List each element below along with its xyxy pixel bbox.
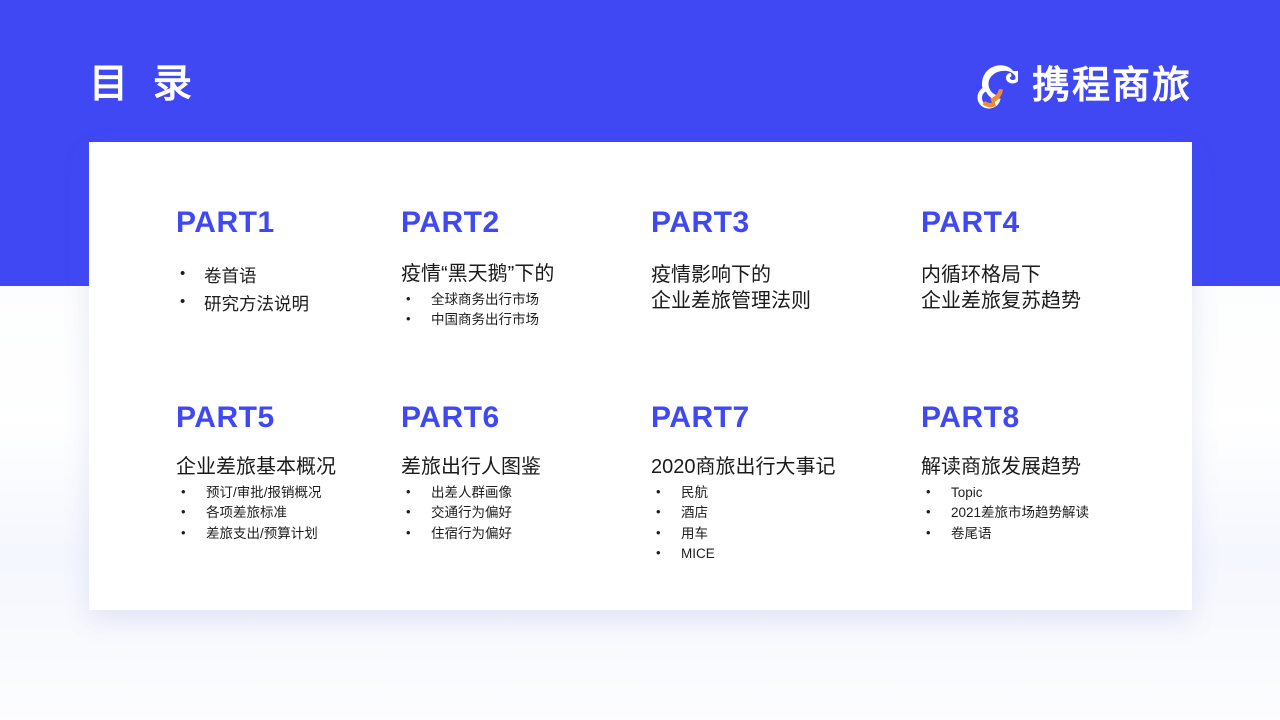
part-item-3[interactable]: PART3 疫情影响下的 企业差旅管理法则 <box>651 208 921 403</box>
contents-card: PART1 卷首语 研究方法说明 PART2 疫情“黑天鹅”下的 全球商务出行市… <box>89 142 1192 610</box>
part-bullets-2: 全球商务出行市场 中国商务出行市场 <box>401 290 651 331</box>
part-label-8: PART8 <box>921 403 1189 433</box>
list-item: 住宿行为偏好 <box>401 524 651 545</box>
part-item-5[interactable]: PART5 企业差旅基本概况 预订/审批/报销概况 各项差旅标准 差旅支出/预算… <box>176 403 401 676</box>
list-item: 出差人群画像 <box>401 483 651 504</box>
list-item: 卷首语 <box>176 262 401 290</box>
part-item-6[interactable]: PART6 差旅出行人图鉴 出差人群画像 交通行为偏好 住宿行为偏好 <box>401 403 651 676</box>
part-item-1[interactable]: PART1 卷首语 研究方法说明 <box>176 208 401 403</box>
page-title: 目 录 <box>89 64 199 107</box>
list-item: 民航 <box>651 483 921 504</box>
list-item: 中国商务出行市场 <box>401 310 651 331</box>
part-item-8[interactable]: PART8 解读商旅发展趋势 Topic 2021差旅市场趋势解读 卷尾语 <box>921 403 1189 676</box>
list-item: 各项差旅标准 <box>176 503 401 524</box>
part-label-6: PART6 <box>401 403 651 433</box>
part-heading-3: 疫情影响下的 企业差旅管理法则 <box>651 262 921 315</box>
part-bullets-7: 民航 酒店 用车 MICE <box>651 483 921 565</box>
part-heading-2: 疫情“黑天鹅”下的 <box>401 262 651 288</box>
part-label-4: PART4 <box>921 208 1189 238</box>
part-label-2: PART2 <box>401 208 651 238</box>
list-item: MICE <box>651 544 921 565</box>
part-label-5: PART5 <box>176 403 401 433</box>
list-item: 卷尾语 <box>921 524 1189 545</box>
part-bullets-6: 出差人群画像 交通行为偏好 住宿行为偏好 <box>401 483 651 545</box>
list-item: 2021差旅市场趋势解读 <box>921 503 1189 524</box>
part-label-7: PART7 <box>651 403 921 433</box>
part-heading-5: 企业差旅基本概况 <box>176 455 401 481</box>
list-item: 交通行为偏好 <box>401 503 651 524</box>
parts-grid: PART1 卷首语 研究方法说明 PART2 疫情“黑天鹅”下的 全球商务出行市… <box>89 142 1192 610</box>
brand-logo: 携程商旅 <box>968 60 1192 112</box>
part-label-3: PART3 <box>651 208 921 238</box>
part-bullets-1: 卷首语 研究方法说明 <box>176 262 401 318</box>
list-item: 酒店 <box>651 503 921 524</box>
part-item-4[interactable]: PART4 内循环格局下 企业差旅复苏趋势 <box>921 208 1189 403</box>
part-heading-4: 内循环格局下 企业差旅复苏趋势 <box>921 262 1189 315</box>
part-heading-8: 解读商旅发展趋势 <box>921 455 1189 481</box>
dolphin-logo-icon <box>968 60 1018 112</box>
part-heading-7: 2020商旅出行大事记 <box>651 455 921 481</box>
part-item-2[interactable]: PART2 疫情“黑天鹅”下的 全球商务出行市场 中国商务出行市场 <box>401 208 651 403</box>
part-label-1: PART1 <box>176 208 401 238</box>
list-item: 用车 <box>651 524 921 545</box>
brand-name: 携程商旅 <box>1032 67 1192 105</box>
list-item: Topic <box>921 483 1189 504</box>
list-item: 差旅支出/预算计划 <box>176 524 401 545</box>
list-item: 研究方法说明 <box>176 290 401 318</box>
list-item: 预订/审批/报销概况 <box>176 483 401 504</box>
part-item-7[interactable]: PART7 2020商旅出行大事记 民航 酒店 用车 MICE <box>651 403 921 676</box>
part-heading-6: 差旅出行人图鉴 <box>401 455 651 481</box>
part-bullets-8: Topic 2021差旅市场趋势解读 卷尾语 <box>921 483 1189 545</box>
list-item: 全球商务出行市场 <box>401 290 651 311</box>
presentation-slide: 目 录 携程商旅 PART1 卷首语 研究方法说明 PART2 疫情“黑天鹅”下… <box>0 0 1280 720</box>
part-bullets-5: 预订/审批/报销概况 各项差旅标准 差旅支出/预算计划 <box>176 483 401 545</box>
